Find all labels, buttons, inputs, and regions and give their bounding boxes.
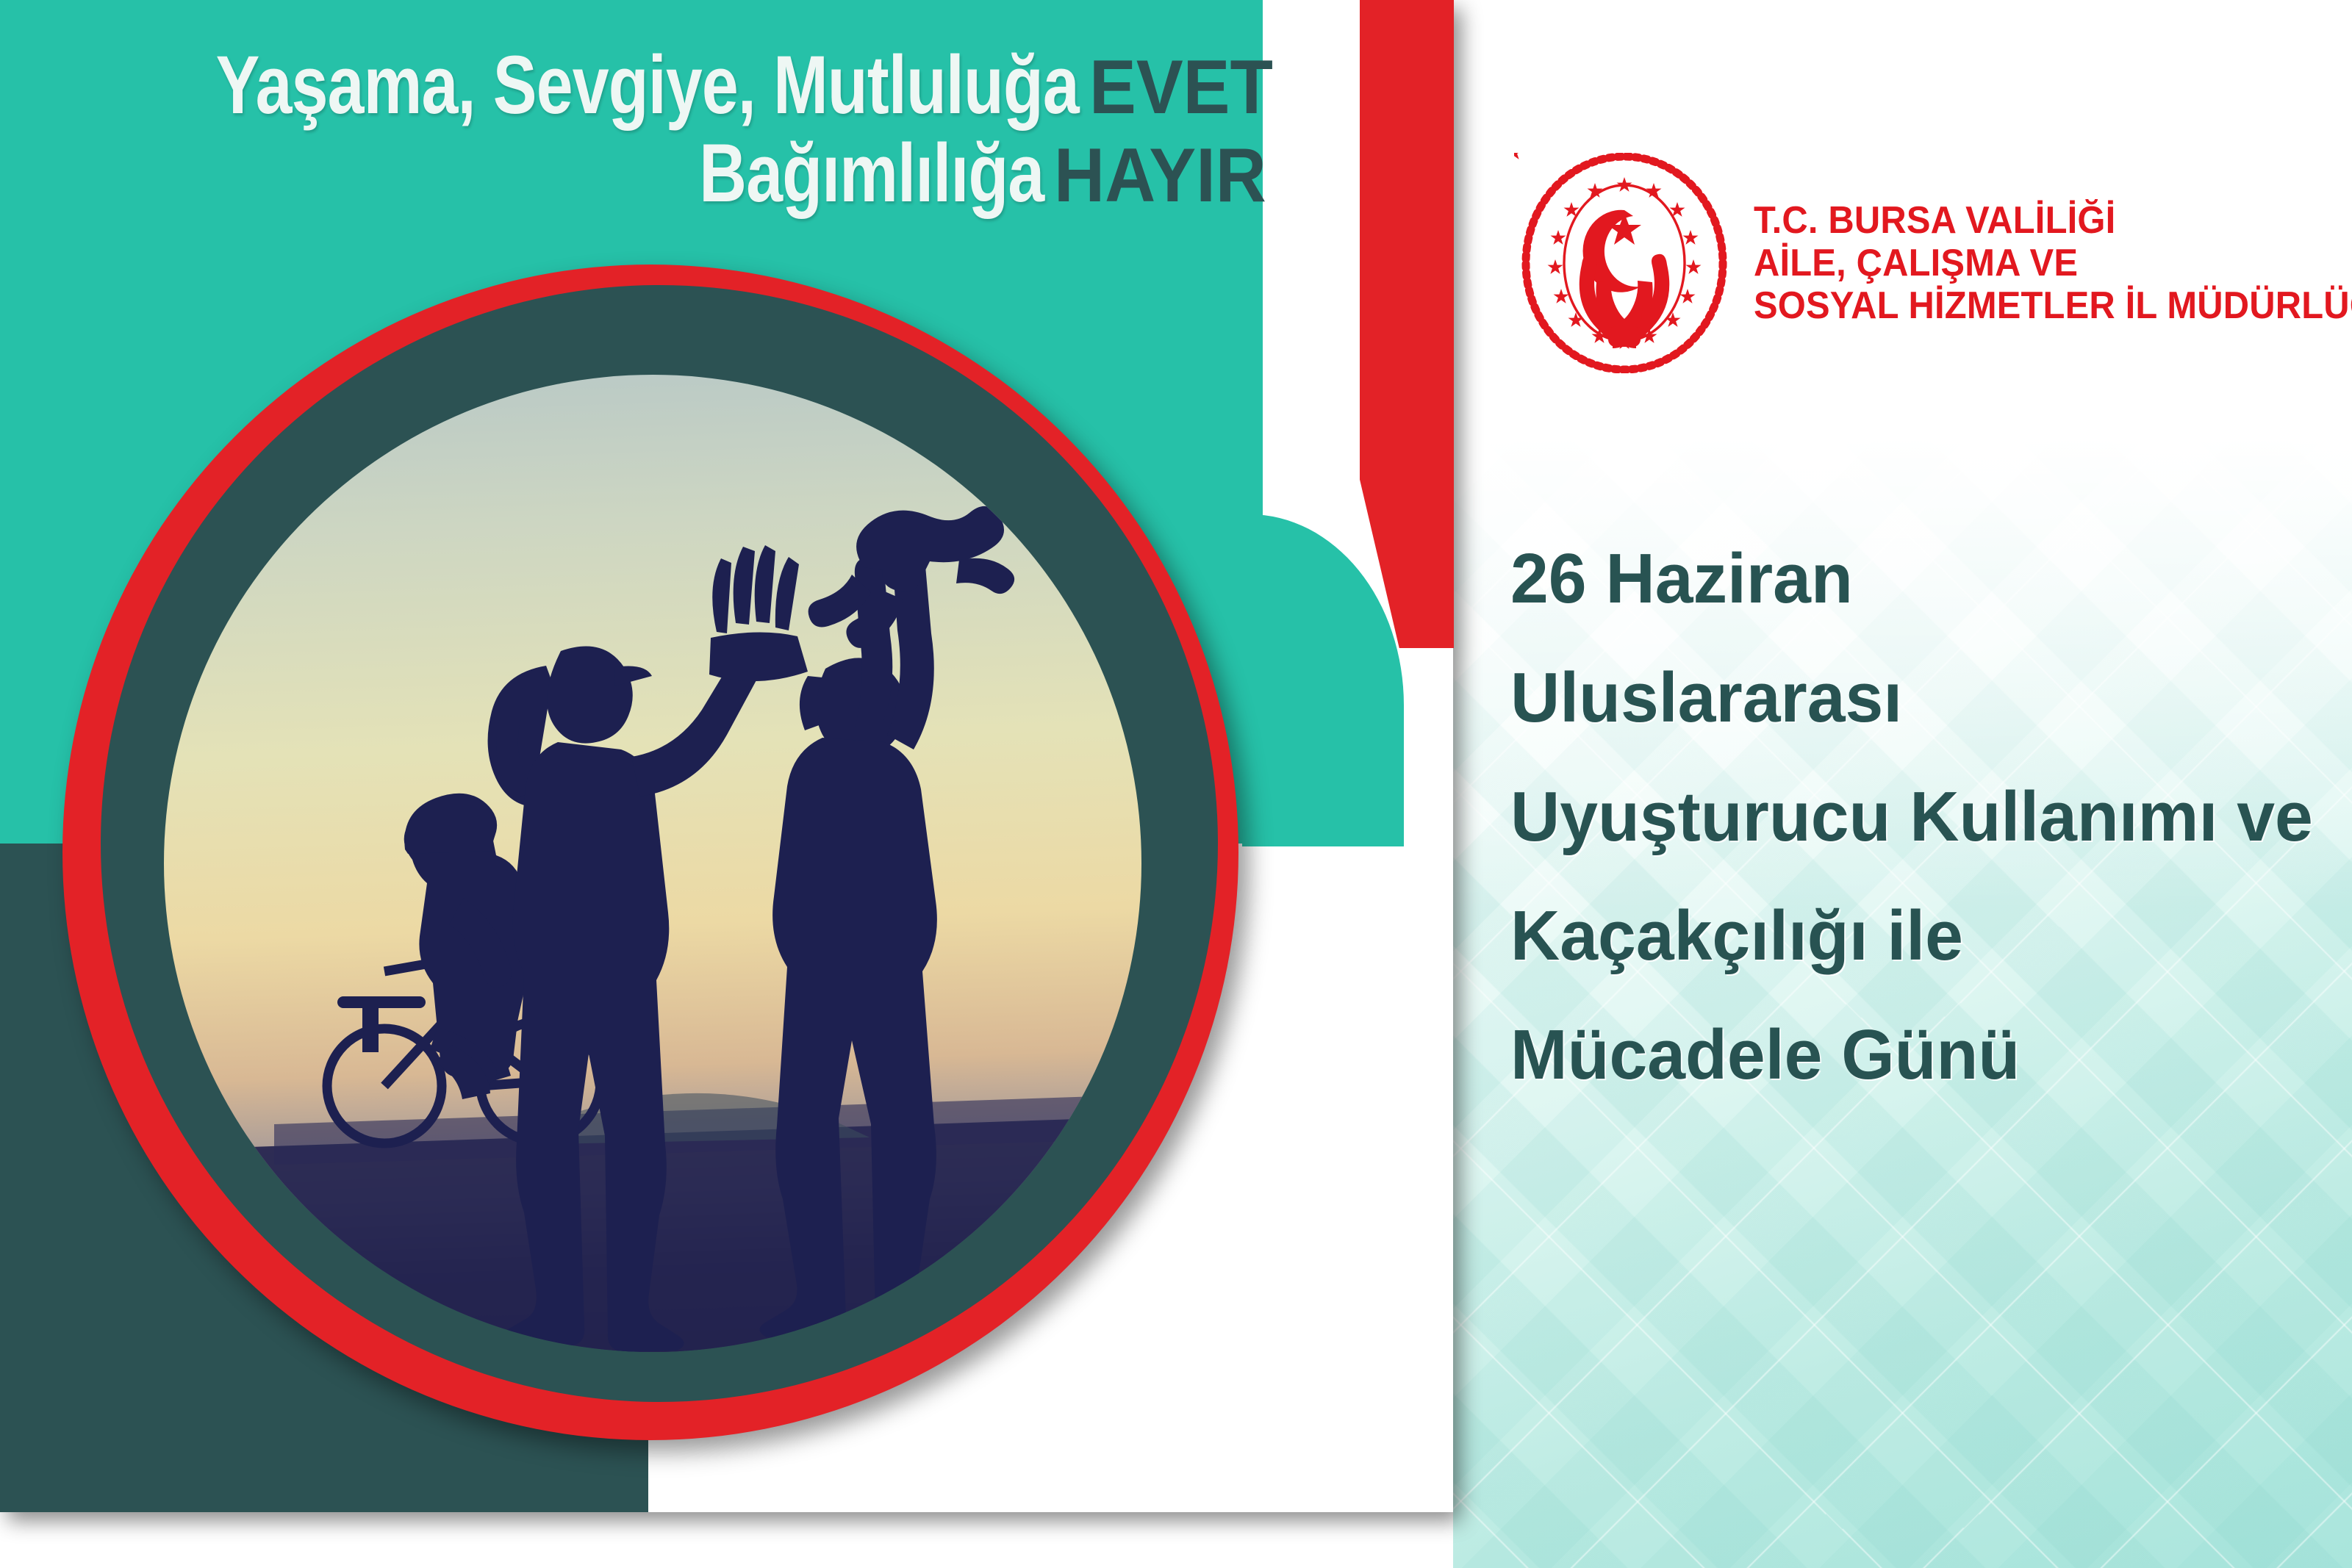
family-silhouette-icon xyxy=(164,375,1141,1352)
ministry-logo-text: T.C. BURSA VALİLİĞİ AİLE, ÇALIŞMA VE SOS… xyxy=(1754,199,2352,328)
headline-line2-white: Bağımlılığa xyxy=(699,132,1044,215)
headline-line1-white: Yaşama, Sevgiye, Mutluluğa xyxy=(216,44,1079,126)
event-title-line-5: Mücadele Günü xyxy=(1510,1020,2309,1090)
family-silhouette-photo xyxy=(164,375,1141,1352)
event-title-block: 26 Haziran Uluslararası Uyuşturucu Kulla… xyxy=(1510,544,2334,1090)
ministry-logo-line-1: T.C. BURSA VALİLİĞİ xyxy=(1754,199,2352,242)
headline-block: Yaşama, Sevgiye, MutluluğaEVET Bağımlılı… xyxy=(0,44,1323,215)
turkish-ministry-seal-icon xyxy=(1514,153,1735,373)
headline-evet: EVET xyxy=(1089,49,1273,126)
event-title-line-3: Uyuşturucu Kullanımı ve xyxy=(1510,782,2309,852)
poster-canvas: Yaşama, Sevgiye, MutluluğaEVET Bağımlılı… xyxy=(0,0,2352,1568)
event-title-line-4: Kaçakçılığı ile xyxy=(1510,901,2309,971)
headline-line-2: BağımlılığaHAYIR xyxy=(0,132,1323,215)
photo-medallion xyxy=(62,265,1238,1440)
headline-line-1: Yaşama, Sevgiye, MutluluğaEVET xyxy=(0,44,1323,126)
event-title-line-2: Uluslararası xyxy=(1510,663,2309,733)
ministry-logo: T.C. BURSA VALİLİĞİ AİLE, ÇALIŞMA VE SOS… xyxy=(1514,153,2352,373)
event-title-line-1: 26 Haziran xyxy=(1510,544,2309,614)
headline-hayir: HAYIR xyxy=(1054,137,1266,214)
ministry-logo-line-3: SOSYAL HİZMETLER İL MÜDÜRLÜĞÜ xyxy=(1754,284,2352,327)
ministry-logo-line-2: AİLE, ÇALIŞMA VE xyxy=(1754,242,2352,284)
